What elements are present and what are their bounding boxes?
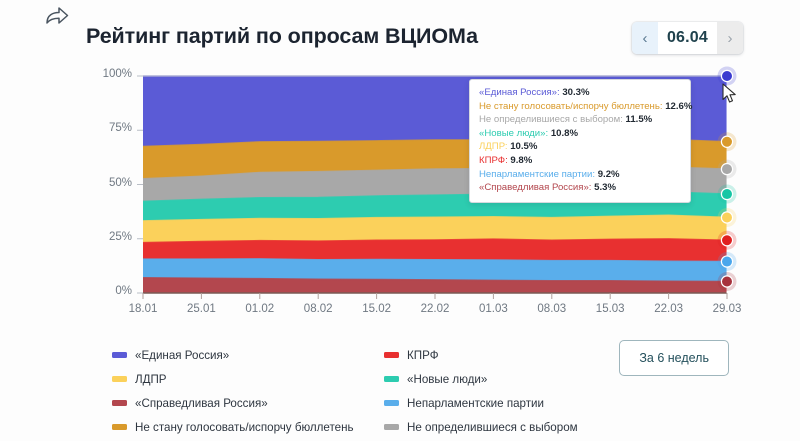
end-marker [722, 189, 732, 199]
x-tick-label: 08.02 [295, 303, 341, 315]
legend-item[interactable]: ЛДПР [112, 373, 384, 386]
x-tick-label: 18.01 [120, 303, 166, 315]
legend-label: Не стану голосовать/испорчу бюллетень [135, 421, 354, 434]
legend-item[interactable]: КПРФ [384, 349, 602, 362]
range-button[interactable]: За 6 недель [619, 340, 729, 376]
tooltip-label: Не стану голосовать/испорчу бюллетень: [479, 101, 665, 112]
legend-swatch [112, 424, 127, 430]
y-tick-label: 0% [88, 285, 132, 297]
y-tick-label: 25% [88, 231, 132, 243]
legend-label: КПРФ [407, 349, 439, 362]
tooltip-value: 12.6% [665, 101, 692, 112]
end-marker [722, 212, 732, 222]
legend-swatch [112, 400, 127, 406]
x-tick-label: 22.03 [646, 303, 692, 315]
legend-item[interactable]: «Новые люди» [384, 373, 602, 386]
legend-label: ЛДПР [135, 373, 167, 386]
x-tick-label: 01.03 [470, 303, 516, 315]
y-tick-label: 100% [88, 68, 132, 80]
end-marker [722, 276, 732, 286]
tooltip-label: Непарламентские партии: [479, 169, 598, 180]
tooltip-label: ЛДПР: [479, 141, 510, 152]
tooltip-value: 9.8% [510, 155, 532, 166]
legend-label: «Единая Россия» [135, 349, 229, 362]
x-tick-label: 22.02 [412, 303, 458, 315]
tooltip-row: Непарламентские партии: 9.2% [479, 168, 681, 182]
tooltip-row: Не стану голосовать/испорчу бюллетень: 1… [479, 100, 681, 114]
x-tick-label: 15.02 [354, 303, 400, 315]
end-marker [722, 164, 732, 174]
tooltip-row: ЛДПР: 10.5% [479, 140, 681, 154]
x-tick-label: 25.01 [178, 303, 224, 315]
end-marker [722, 137, 732, 147]
legend-swatch [384, 400, 399, 406]
tooltip-value: 9.2% [598, 169, 620, 180]
tooltip-label: «Справедливая Россия»: [479, 182, 594, 193]
chart-tooltip: «Единая Россия»: 30.3%Не стану голосоват… [469, 79, 691, 203]
tooltip-value: 10.8% [551, 128, 578, 139]
tooltip-row: «Справедливая Россия»: 5.3% [479, 181, 681, 195]
tooltip-label: «Единая Россия»: [479, 87, 562, 98]
end-marker [722, 71, 732, 81]
legend-swatch [384, 352, 399, 358]
tooltip-row: «Новые люди»: 10.8% [479, 127, 681, 141]
tooltip-row: Не определившиеся с выбором: 11.5% [479, 113, 681, 127]
tooltip-label: «Новые люди»: [479, 128, 551, 139]
legend-label: «Справедливая Россия» [135, 397, 268, 410]
y-tick-label: 50% [88, 177, 132, 189]
legend-label: Непарламентские партии [407, 397, 544, 410]
legend-swatch [384, 424, 399, 430]
x-tick-label: 15.03 [587, 303, 633, 315]
mouse-cursor-icon [722, 83, 738, 104]
x-tick-label: 08.03 [529, 303, 575, 315]
legend-swatch [384, 376, 399, 382]
legend-item[interactable]: Непарламентские партии [384, 397, 602, 410]
legend-item[interactable]: «Справедливая Россия» [112, 397, 384, 410]
x-tick-label: 01.02 [237, 303, 283, 315]
tooltip-label: КПРФ: [479, 155, 510, 166]
tooltip-value: 11.5% [626, 114, 653, 125]
chart-legend: «Единая Россия»КПРФЛДПР«Новые люди»«Спра… [112, 343, 602, 439]
tooltip-row: КПРФ: 9.8% [479, 154, 681, 168]
end-marker [722, 257, 732, 267]
legend-label: «Новые люди» [407, 373, 487, 386]
tooltip-label: Не определившиеся с выбором: [479, 114, 626, 125]
y-tick-label: 75% [88, 122, 132, 134]
legend-item[interactable]: «Единая Россия» [112, 349, 384, 362]
x-tick-label: 29.03 [704, 303, 750, 315]
legend-item[interactable]: Не стану голосовать/испорчу бюллетень [112, 421, 384, 434]
legend-item[interactable]: Не определившиеся с выбором [384, 421, 602, 434]
tooltip-row: «Единая Россия»: 30.3% [479, 86, 681, 100]
legend-label: Не определившиеся с выбором [407, 421, 578, 434]
tooltip-value: 5.3% [594, 182, 616, 193]
end-marker [722, 235, 732, 245]
legend-swatch [112, 376, 127, 382]
tooltip-value: 10.5% [510, 141, 537, 152]
tooltip-value: 30.3% [562, 87, 589, 98]
chart-card: Рейтинг партий по опросам ВЦИОМа ‹ 06.04… [0, 0, 800, 441]
legend-swatch [112, 352, 127, 358]
